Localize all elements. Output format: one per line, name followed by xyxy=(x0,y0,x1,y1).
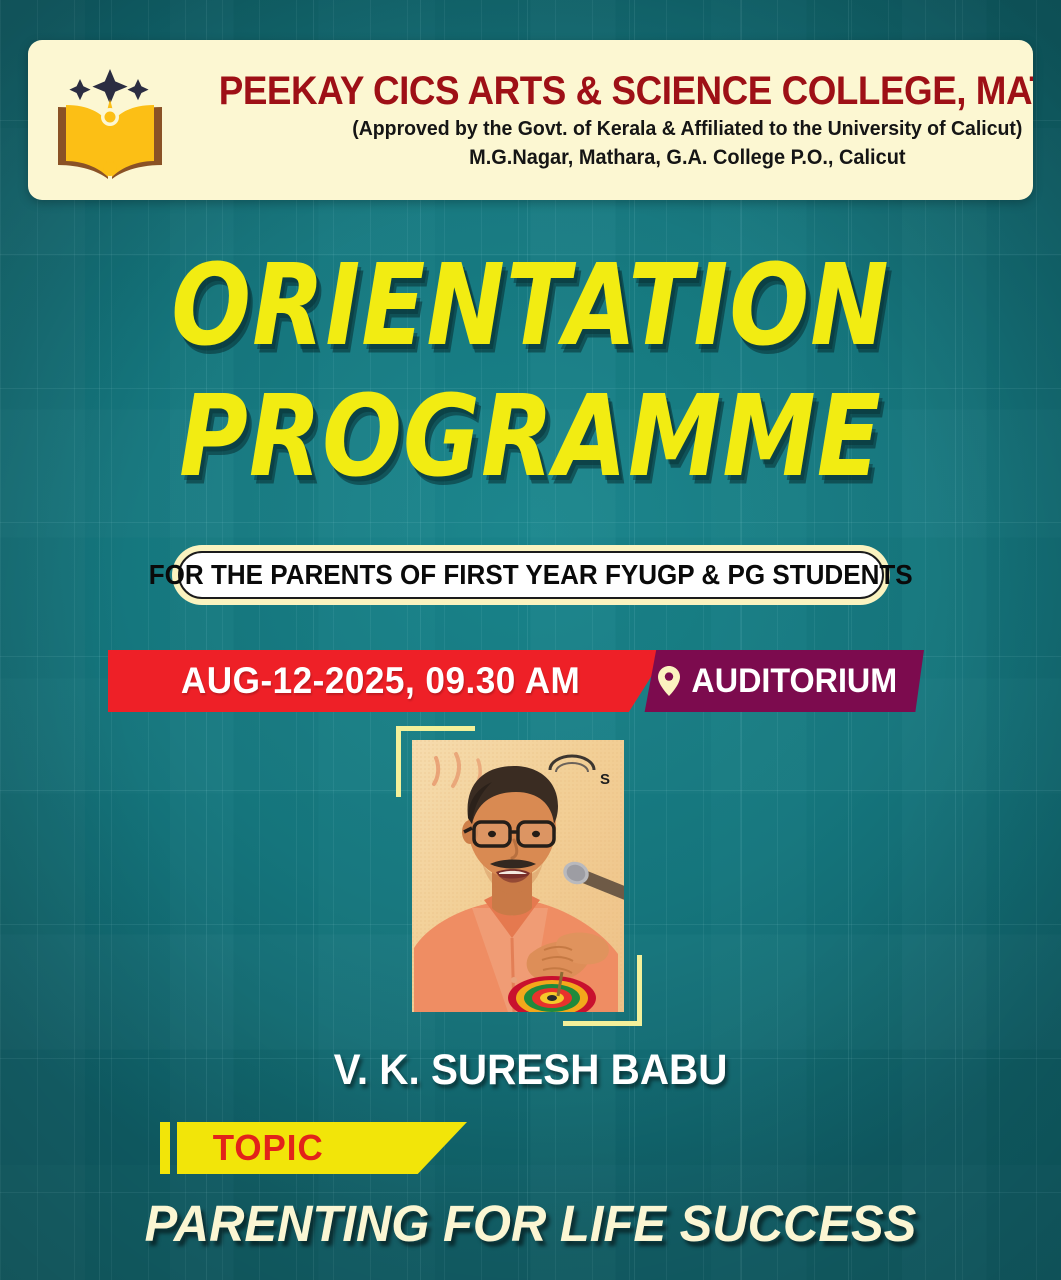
topic-label: TOPIC xyxy=(213,1127,324,1169)
date-time-text: AUG-12-2025, 09.30 AM xyxy=(181,660,580,702)
audience-pill: FOR THE PARENTS OF FIRST YEAR FYUGP & PG… xyxy=(172,545,890,605)
college-address-line: M.G.Nagar, Mathara, G.A. College P.O., C… xyxy=(203,146,1033,170)
event-details-bands: AUG-12-2025, 09.30 AM AUDITORIUM xyxy=(0,650,1061,712)
svg-text:S: S xyxy=(600,771,610,788)
topic-title: PARENTING FOR LIFE SUCCESS xyxy=(21,1194,1040,1253)
event-title-block: ORIENTATION PROGRAMME xyxy=(0,255,1061,470)
open-book-with-pen-nib-and-stars-icon xyxy=(50,55,170,186)
speaker-name: V. K. SURESH BABU xyxy=(32,1046,1029,1095)
college-name: PEEKAY CICS ARTS & SCIENCE COLLEGE, MATH… xyxy=(219,70,1033,112)
college-approval-line: (Approved by the Govt. of Kerala & Affil… xyxy=(203,117,1033,141)
event-title-line-1: ORIENTATION xyxy=(0,255,1061,358)
college-header-card: PEEKAY CICS ARTS & SCIENCE COLLEGE, MATH… xyxy=(28,40,1033,200)
venue-text: AUDITORIUM xyxy=(691,662,897,701)
topic-banner: TOPIC xyxy=(160,1122,467,1174)
college-logo xyxy=(28,55,178,186)
poster-canvas: PEEKAY CICS ARTS & SCIENCE COLLEGE, MATH… xyxy=(0,0,1061,1280)
speaker-photo-area: S xyxy=(396,726,642,1026)
college-header-text: PEEKAY CICS ARTS & SCIENCE COLLEGE, MATH… xyxy=(178,70,1033,170)
location-pin-icon xyxy=(658,666,680,696)
audience-pill-inner: FOR THE PARENTS OF FIRST YEAR FYUGP & PG… xyxy=(178,551,884,599)
date-time-band: AUG-12-2025, 09.30 AM xyxy=(108,650,668,712)
audience-text: FOR THE PARENTS OF FIRST YEAR FYUGP & PG… xyxy=(149,559,913,591)
venue-band: AUDITORIUM xyxy=(636,650,924,712)
event-title-line-2: PROGRAMME xyxy=(0,386,1061,489)
topic-accent-bar xyxy=(160,1122,170,1174)
topic-flag: TOPIC xyxy=(177,1122,467,1174)
speaker-photo: S xyxy=(412,740,624,1012)
